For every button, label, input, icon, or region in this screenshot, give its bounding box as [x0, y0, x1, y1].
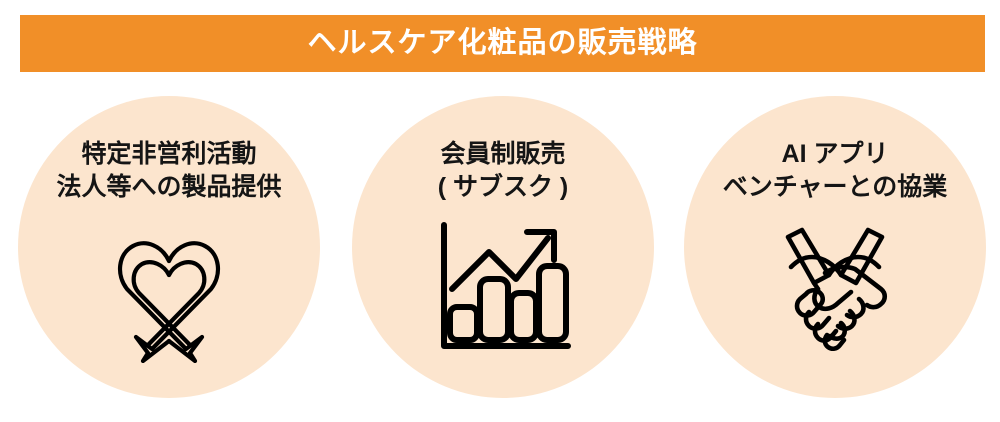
strategy-card-label-line1: 特定非営利活動	[81, 140, 256, 168]
page-title: ヘルスケア化粧品の販売戦略	[307, 29, 697, 58]
strategy-card-label: AI アプリ ベンチャーとの協業	[723, 138, 948, 205]
handshake-icon	[684, 213, 986, 363]
title-banner: ヘルスケア化粧品の販売戦略	[20, 15, 985, 72]
strategy-card-nonprofit-product-supply: 特定非営利活動 法人等への製品提供	[18, 96, 320, 398]
strategy-card-label-line2: ( サブスク )	[438, 171, 569, 204]
strategy-card-label-line2: ベンチャーとの協業	[723, 171, 948, 204]
strategy-card-label-line1: 会員制販売	[440, 140, 565, 168]
strategy-card-label-line1: AI アプリ	[782, 140, 889, 168]
strategy-card-label: 特定非営利活動 法人等への製品提供	[56, 138, 281, 205]
growth-bar-chart-icon	[352, 213, 654, 363]
strategy-card-membership-subscription: 会員制販売 ( サブスク )	[352, 96, 654, 398]
strategy-card-label-line2: 法人等への製品提供	[56, 171, 281, 204]
strategy-card-ai-app-venture-collaboration: AI アプリ ベンチャーとの協業	[684, 96, 986, 398]
heart-ribbon-icon	[18, 213, 320, 363]
strategy-card-label: 会員制販売 ( サブスク )	[438, 138, 569, 205]
